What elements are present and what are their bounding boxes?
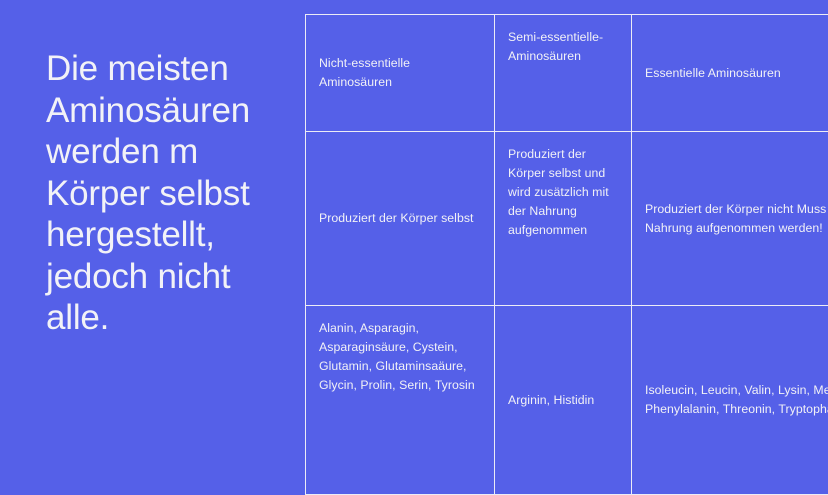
table-header-cell-non-essential: Nicht-essentielle Aminosäuren xyxy=(306,15,495,132)
table-row: Produziert der Körper selbst Produziert … xyxy=(306,132,828,306)
table-cell-non-essential-list: Alanin, Asparagin, Asparaginsäure, Cyste… xyxy=(306,306,495,495)
table-header-cell-semi-essential: Semi-essentielle-Aminosäuren xyxy=(495,15,632,132)
table-header-cell-essential: Essentielle Aminosäuren xyxy=(632,15,828,132)
slide-canvas: Die meisten Aminosäuren werden m Körper … xyxy=(0,0,828,466)
amino-acid-table: Nicht-essentielle Aminosäuren Semi-essen… xyxy=(305,14,828,495)
table-cell-essential-list: Isoleucin, Leucin, Valin, Lysin, Methion… xyxy=(632,306,828,495)
table-cell-semi-essential-list: Arginin, Histidin xyxy=(495,306,632,495)
page-title: Die meisten Aminosäuren werden m Körper … xyxy=(46,48,294,339)
table-cell-semi-essential-description: Produziert der Körper selbst und wird zu… xyxy=(495,132,632,306)
table-row: Nicht-essentielle Aminosäuren Semi-essen… xyxy=(306,15,828,132)
table-cell-non-essential-description: Produziert der Körper selbst xyxy=(306,132,495,306)
table-row: Alanin, Asparagin, Asparaginsäure, Cyste… xyxy=(306,306,828,495)
table-cell-essential-description: Produziert der Körper nicht Muss mit Nah… xyxy=(632,132,828,306)
